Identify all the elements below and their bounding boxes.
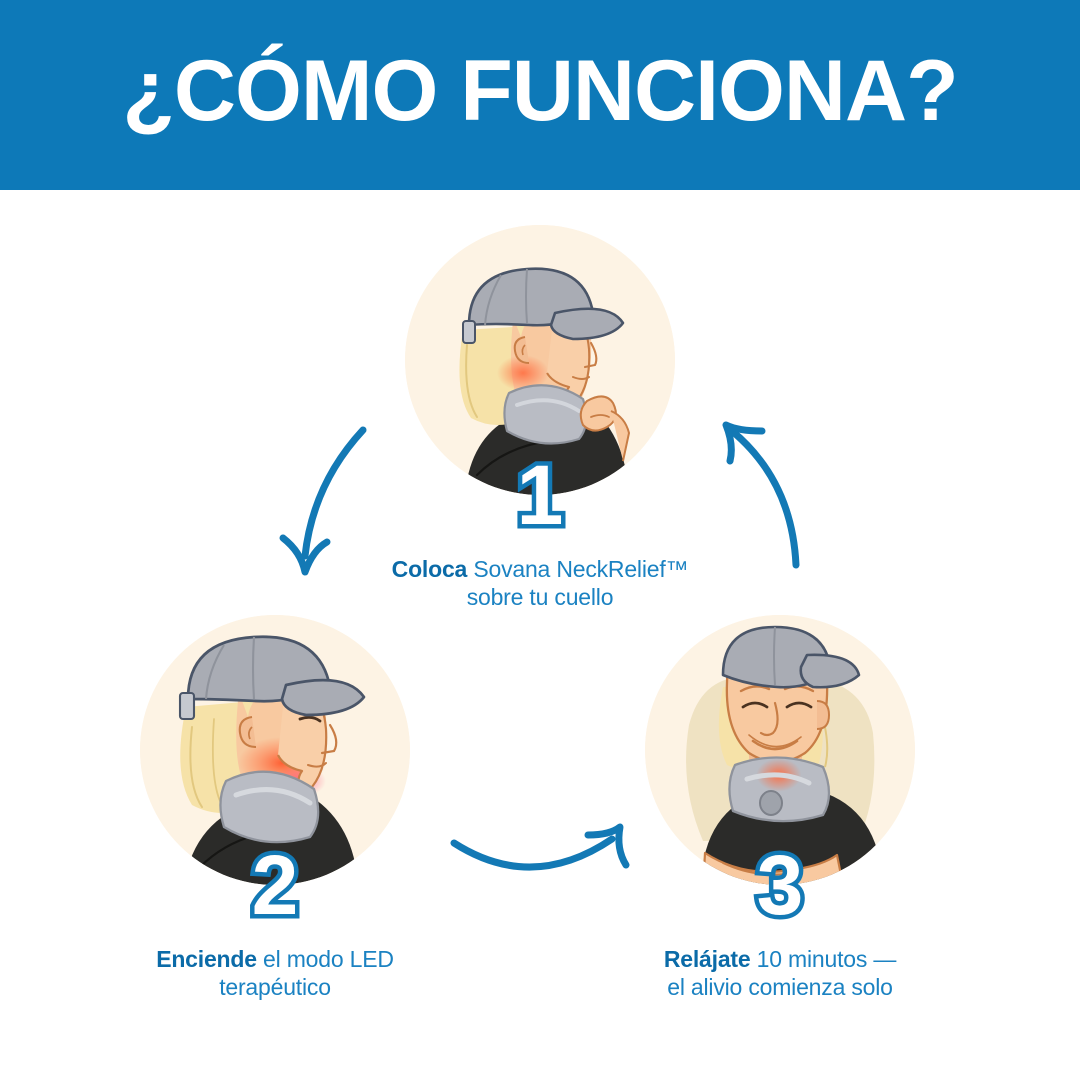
step-2-caption-line2: terapéutico: [219, 974, 331, 1000]
step-3-number: 3: [757, 843, 804, 927]
step-1-caption-rest: Sovana NeckRelief™: [467, 556, 688, 582]
step-1-number: 1: [517, 453, 564, 537]
step-2-caption: Enciende el modo LED terapéutico: [105, 945, 445, 1001]
step-1-caption-bold: Coloca: [392, 556, 467, 582]
step-3-caption-line2: el alivio comienza solo: [667, 974, 893, 1000]
page-title: ¿CÓMO FUNCIONA?: [0, 0, 1080, 190]
arrow-step3-to-step1-icon: [700, 405, 830, 585]
step-1: 1 Coloca Sovana NeckRelief™ sobre tu cue…: [370, 225, 710, 611]
arrow-step2-to-step3-icon: [440, 815, 650, 895]
steps-stage: 1 Coloca Sovana NeckRelief™ sobre tu cue…: [0, 190, 1080, 1080]
step-3-caption: Relájate 10 minutos — el alivio comienza…: [610, 945, 950, 1001]
arrow-step1-to-step2-icon: [265, 410, 395, 590]
step-3-caption-rest: 10 minutos —: [750, 946, 896, 972]
step-2-illustration-wrap: 2: [140, 615, 410, 885]
step-2-caption-rest: el modo LED: [257, 946, 394, 972]
step-3-illustration-wrap: 3: [645, 615, 915, 885]
step-1-illustration-wrap: 1: [405, 225, 675, 495]
step-3-caption-bold: Relájate: [664, 946, 751, 972]
step-1-caption-line2: sobre tu cuello: [467, 584, 614, 610]
step-2-caption-bold: Enciende: [156, 946, 257, 972]
step-2-number: 2: [252, 843, 299, 927]
step-2: 2 Enciende el modo LED terapéutico: [105, 615, 445, 1001]
step-3: 3 Relájate 10 minutos — el alivio comien…: [610, 615, 950, 1001]
step-1-caption: Coloca Sovana NeckRelief™ sobre tu cuell…: [370, 555, 710, 611]
